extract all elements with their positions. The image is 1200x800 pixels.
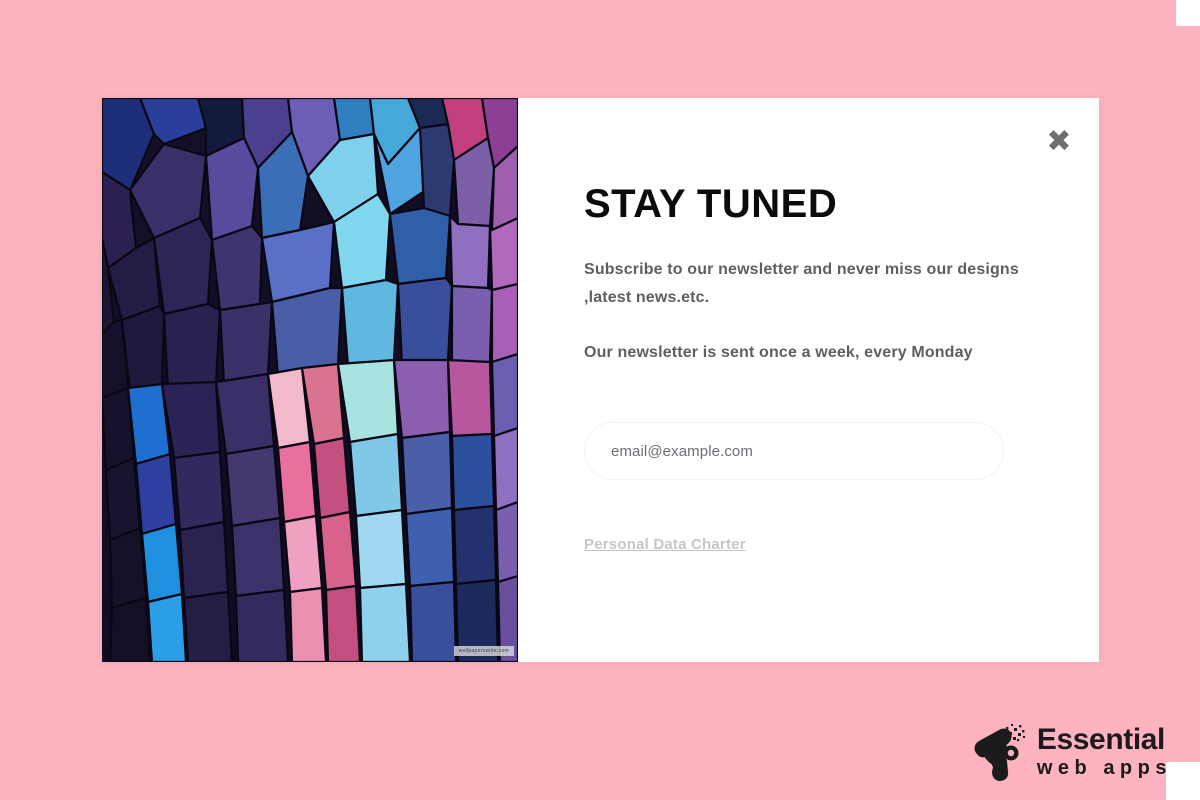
modal-content-panel: ✖ STAY TUNED Subscribe to our newsletter… bbox=[518, 98, 1099, 662]
corner-notch-top-right bbox=[1176, 0, 1200, 26]
brand-logo: Essential web apps bbox=[971, 720, 1172, 782]
modal-body: STAY TUNED Subscribe to our newsletter a… bbox=[518, 98, 1099, 554]
logo-title: Essential bbox=[1037, 725, 1172, 755]
essential-web-apps-logo-mark bbox=[971, 720, 1027, 782]
email-input-placeholder: email@example.com bbox=[611, 443, 753, 460]
modal-hero-image: wallpaperswide.com bbox=[102, 98, 518, 662]
close-icon[interactable]: ✖ bbox=[1043, 126, 1075, 158]
page-title: STAY TUNED bbox=[584, 184, 1039, 224]
image-watermark: wallpaperswide.com bbox=[454, 646, 514, 656]
frequency-description: Our newsletter is sent once a week, ever… bbox=[584, 339, 1039, 367]
logo-text: Essential web apps bbox=[1037, 725, 1172, 778]
email-field[interactable]: email@example.com bbox=[584, 422, 1004, 480]
geometric-cubes-artwork bbox=[102, 98, 518, 662]
newsletter-modal: wallpaperswide.com ✖ STAY TUNED Subscrib… bbox=[102, 98, 1099, 662]
logo-subtitle: web apps bbox=[1037, 758, 1172, 778]
personal-data-charter-link[interactable]: Personal Data Charter bbox=[584, 536, 746, 553]
subscribe-description: Subscribe to our newsletter and never mi… bbox=[584, 256, 1039, 313]
